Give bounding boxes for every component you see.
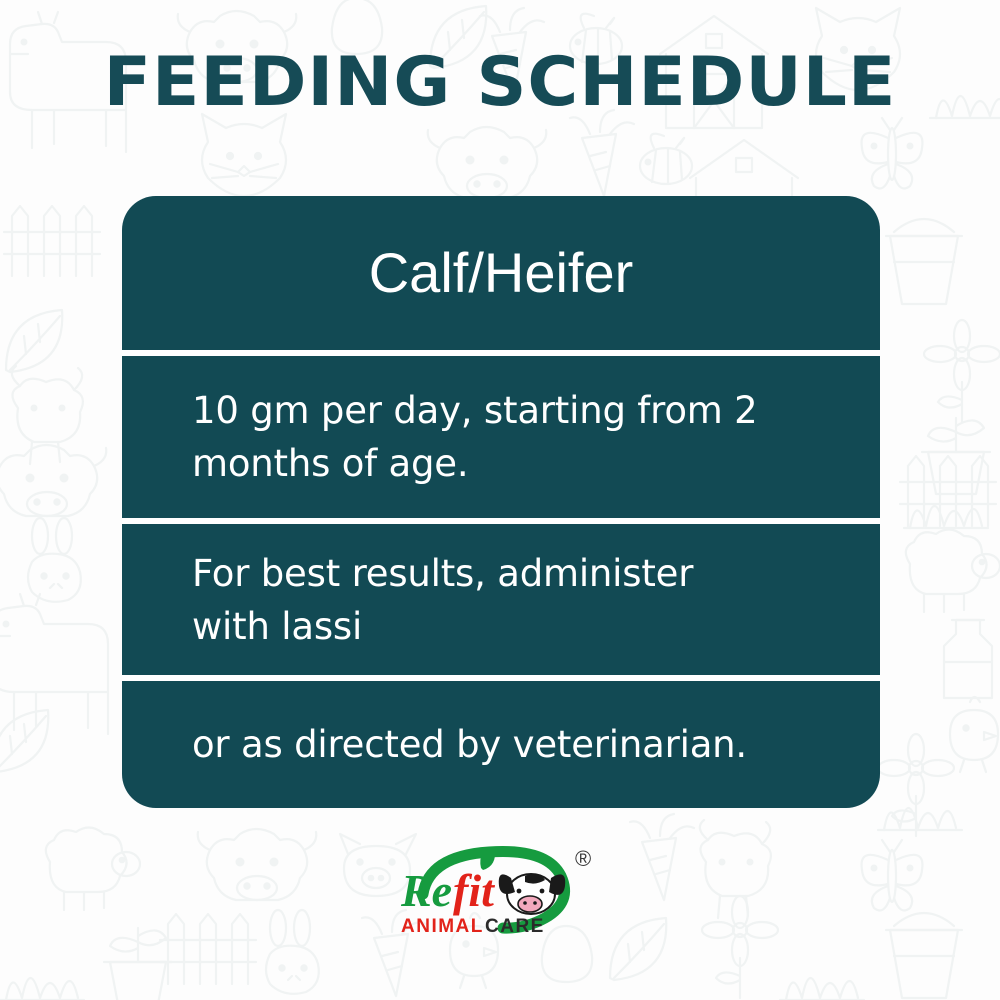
poster-canvas: FEEDING SCHEDULE Calf/Heifer 10 gm per d… [0,0,1000,1000]
logo-brand-part-1: Re [400,865,452,916]
logo-tagline-part-1: ANIMAL [401,916,484,937]
schedule-row-text: or as directed by veterinarian. [192,718,747,771]
card-header: Calf/Heifer [122,196,880,350]
logo-tagline-part-2: CARE [485,916,545,937]
page-title: FEEDING SCHEDULE [0,44,1000,122]
schedule-row-administration: For best results, administer with lassi [122,524,880,675]
schedule-row-text: For best results, administer with lassi [192,547,782,653]
card-header-title: Calf/Heifer [369,243,634,303]
feeding-schedule-card: Calf/Heifer 10 gm per day, starting from… [122,196,880,808]
schedule-row-text: 10 gm per day, starting from 2 months of… [192,384,782,490]
schedule-row-veterinarian: or as directed by veterinarian. [122,681,880,808]
logo-registered-mark: ® [575,846,591,871]
refit-animal-care-logo: Re fit ® ANIMAL CARE [385,842,615,942]
schedule-row-dosage: 10 gm per day, starting from 2 months of… [122,356,880,518]
logo-brand-part-2: fit [453,865,495,916]
